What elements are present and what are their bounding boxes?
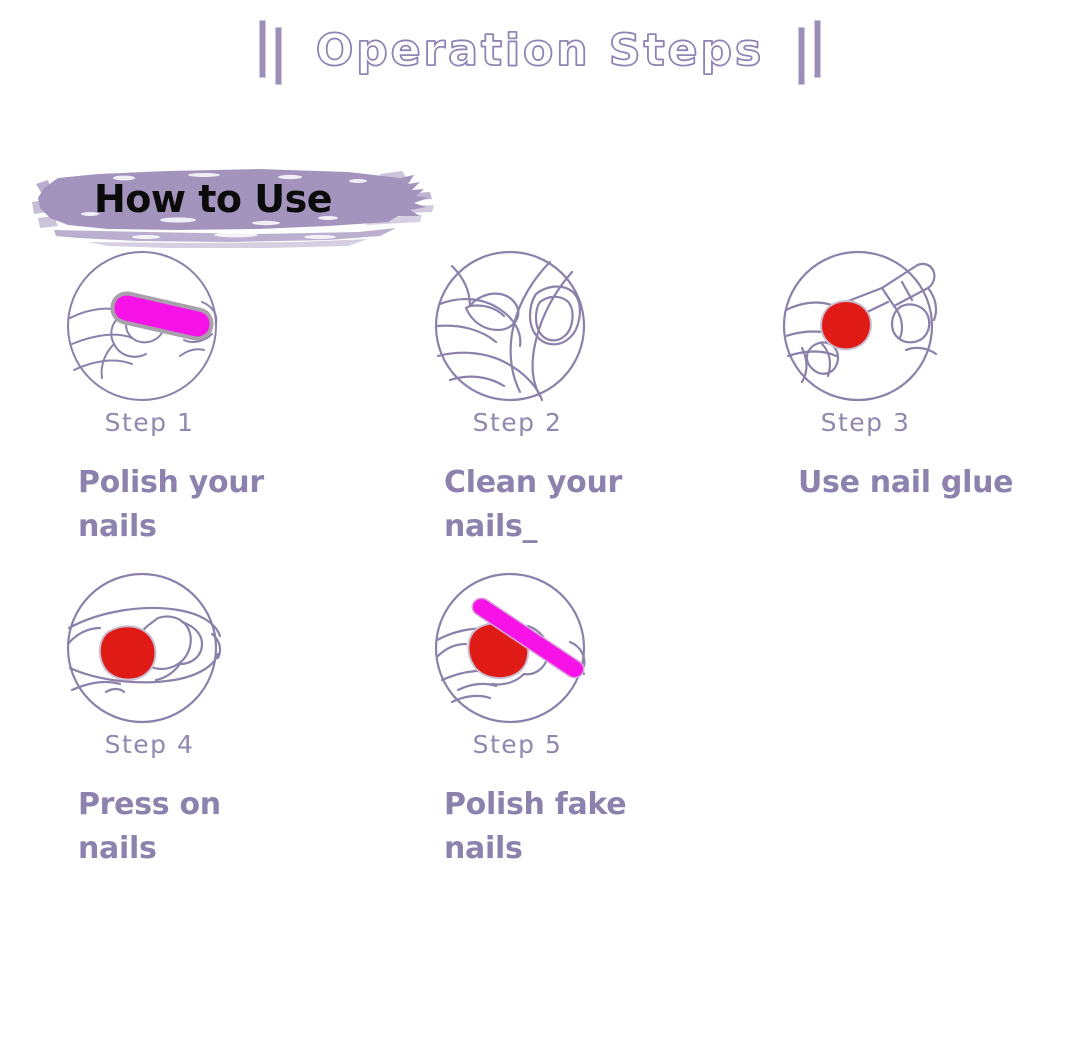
- step-number: Step 2: [430, 410, 605, 435]
- polish-fake-nail-icon: [430, 570, 605, 730]
- title-bar-icon: [275, 27, 282, 85]
- step-item: Step 5 Polish fake nails: [360, 570, 720, 872]
- step-illustration: [778, 248, 953, 408]
- step-illustration: [62, 570, 237, 730]
- steps-row-1: Step 1 Polish your nails: [0, 248, 1080, 550]
- step-caption: Clean your nails_: [444, 461, 674, 550]
- press-fake-nail-icon: [62, 570, 237, 730]
- title-bar-icon: [814, 20, 821, 78]
- step-item: Step 2 Clean your nails_: [360, 248, 720, 550]
- title-left-bars: [259, 20, 282, 82]
- step-item: Step 1 Polish your nails: [0, 248, 360, 550]
- step-item-placeholder: [720, 570, 1080, 872]
- page-title: Operation Steps: [316, 29, 764, 73]
- how-to-use-banner: How to Use: [28, 158, 448, 250]
- step-caption: Use nail glue: [798, 461, 1028, 505]
- step-caption: Press on nails: [78, 783, 308, 872]
- step-illustration: [430, 248, 605, 408]
- glue-brush-on-nail-icon: [778, 248, 953, 408]
- title-bar-icon: [798, 27, 805, 85]
- finger-with-nail-file-icon: [62, 248, 237, 408]
- finger-with-wipe-icon: [430, 248, 605, 408]
- page-title-bar: Operation Steps: [0, 12, 1080, 90]
- step-number: Step 3: [778, 410, 953, 435]
- step-number: Step 5: [430, 732, 605, 757]
- title-right-bars: [798, 20, 821, 82]
- steps-row-2: Step 4 Press on nails: [0, 570, 1080, 872]
- step-number: Step 4: [62, 732, 237, 757]
- step-item: Step 4 Press on nails: [0, 570, 360, 872]
- how-to-use-label: How to Use: [94, 174, 332, 225]
- step-caption: Polish your nails: [78, 461, 308, 550]
- step-item: Step 3 Use nail glue: [720, 248, 1080, 550]
- step-illustration: [430, 570, 605, 730]
- step-caption: Polish fake nails: [444, 783, 674, 872]
- title-bar-icon: [259, 20, 266, 78]
- step-illustration: [62, 248, 237, 408]
- steps-grid: Step 1 Polish your nails: [0, 248, 1080, 872]
- step-number: Step 1: [62, 410, 237, 435]
